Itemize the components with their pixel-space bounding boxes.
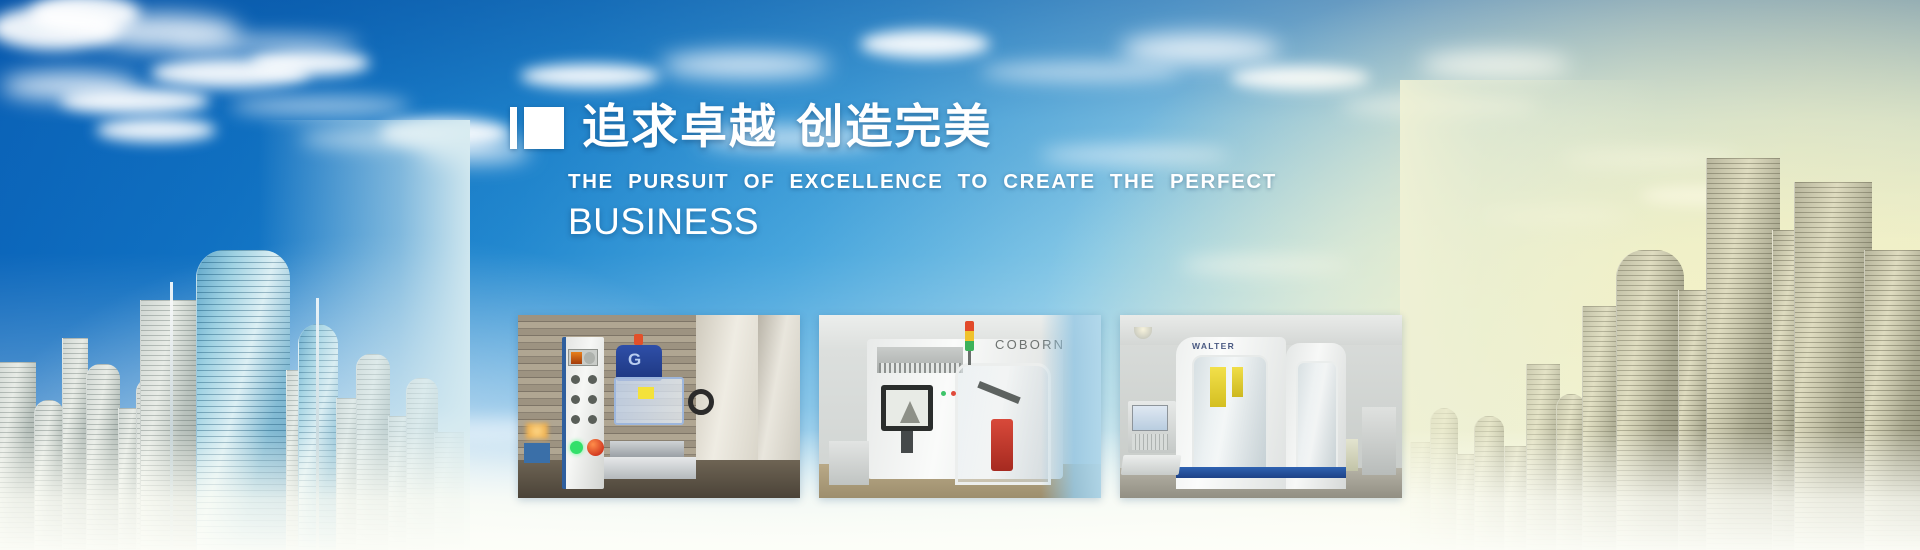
headline-row: 追求卓越 创造完美 (510, 104, 1277, 151)
logo-square-shape (524, 107, 564, 149)
company-logo-mark-icon (510, 107, 564, 149)
headline-chinese: 追求卓越 创造完美 (582, 104, 992, 151)
machine-photo-strip: COBORN WALTER (518, 315, 1402, 498)
banner-copy: 追求卓越 创造完美 THE PURSUIT OF EXCELLENCE TO C… (510, 104, 1277, 242)
photo-edm-drilling-machine[interactable] (518, 315, 800, 498)
photo-coborn-machine[interactable]: COBORN (819, 315, 1101, 498)
business-word: BUSINESS (568, 203, 1277, 242)
walter-brand-label: WALTER (1192, 341, 1235, 351)
hero-banner: 追求卓越 创造完美 THE PURSUIT OF EXCELLENCE TO C… (0, 0, 1920, 550)
subheadline-english: THE PURSUIT OF EXCELLENCE TO CREATE THE … (568, 170, 1277, 194)
logo-bar-shape (510, 107, 517, 149)
photo-walter-grinder[interactable]: WALTER (1120, 315, 1402, 498)
